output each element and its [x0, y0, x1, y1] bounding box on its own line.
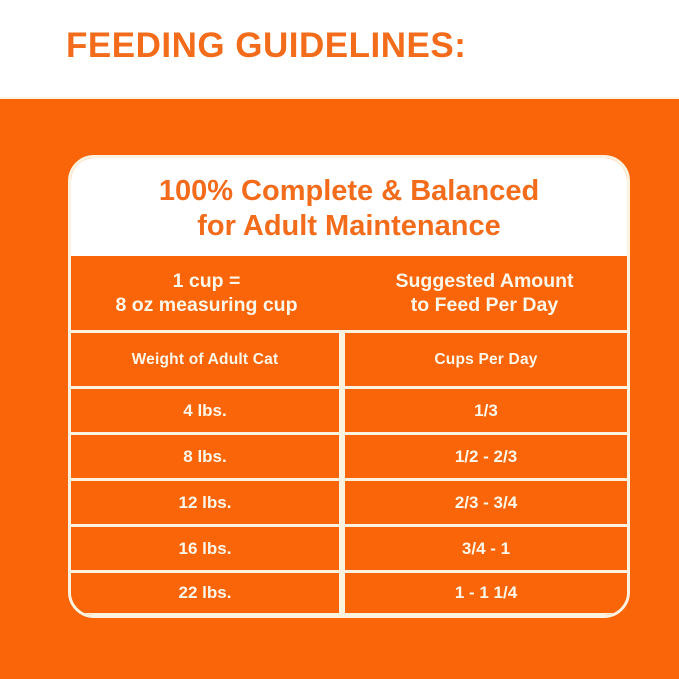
claim-line-2: for Adult Maintenance — [197, 209, 500, 244]
table-row: 16 lbs.3/4 - 1 — [71, 524, 627, 570]
suggested-amount-line-1: Suggested Amount — [395, 269, 573, 293]
table-row: 8 lbs.1/2 - 2/3 — [71, 432, 627, 478]
claim-line-1: 100% Complete & Balanced — [159, 174, 539, 209]
cell-weight: 8 lbs. — [71, 432, 342, 478]
suggested-amount-line-2: to Feed Per Day — [411, 293, 558, 317]
column-header-cups: Cups Per Day — [342, 330, 627, 386]
cell-weight: 12 lbs. — [71, 478, 342, 524]
cell-weight: 4 lbs. — [71, 386, 342, 432]
feeding-guidelines-panel: FEEDING GUIDELINES: 100% Complete & Bala… — [0, 0, 679, 679]
feeding-guidelines-card: 100% Complete & Balanced for Adult Maint… — [68, 155, 630, 618]
cell-cups: 2/3 - 3/4 — [342, 478, 627, 524]
feeding-table: Weight of Adult Cat Cups Per Day 4 lbs.1… — [71, 330, 627, 616]
table-row: 12 lbs.2/3 - 3/4 — [71, 478, 627, 524]
cell-weight: 16 lbs. — [71, 524, 342, 570]
cup-measure-cell: 1 cup = 8 oz measuring cup — [71, 256, 342, 330]
cell-cups: 1/2 - 2/3 — [342, 432, 627, 478]
cell-cups: 1 - 1 1/4 — [342, 570, 627, 616]
table-header-row: Weight of Adult Cat Cups Per Day — [71, 330, 627, 386]
table-row: 4 lbs.1/3 — [71, 386, 627, 432]
page-title: FEEDING GUIDELINES: — [66, 26, 466, 66]
table-row: 22 lbs.1 - 1 1/4 — [71, 570, 627, 616]
cup-measure-line-2: 8 oz measuring cup — [115, 293, 297, 317]
measure-banner-row: 1 cup = 8 oz measuring cup Suggested Amo… — [71, 256, 627, 330]
cell-cups: 3/4 - 1 — [342, 524, 627, 570]
cup-measure-line-1: 1 cup = — [173, 269, 241, 293]
cell-weight: 22 lbs. — [71, 570, 342, 616]
suggested-amount-cell: Suggested Amount to Feed Per Day — [342, 256, 627, 330]
cell-cups: 1/3 — [342, 386, 627, 432]
column-header-weight: Weight of Adult Cat — [71, 330, 342, 386]
card-header: 100% Complete & Balanced for Adult Maint… — [71, 158, 627, 256]
title-band: FEEDING GUIDELINES: — [0, 0, 679, 99]
